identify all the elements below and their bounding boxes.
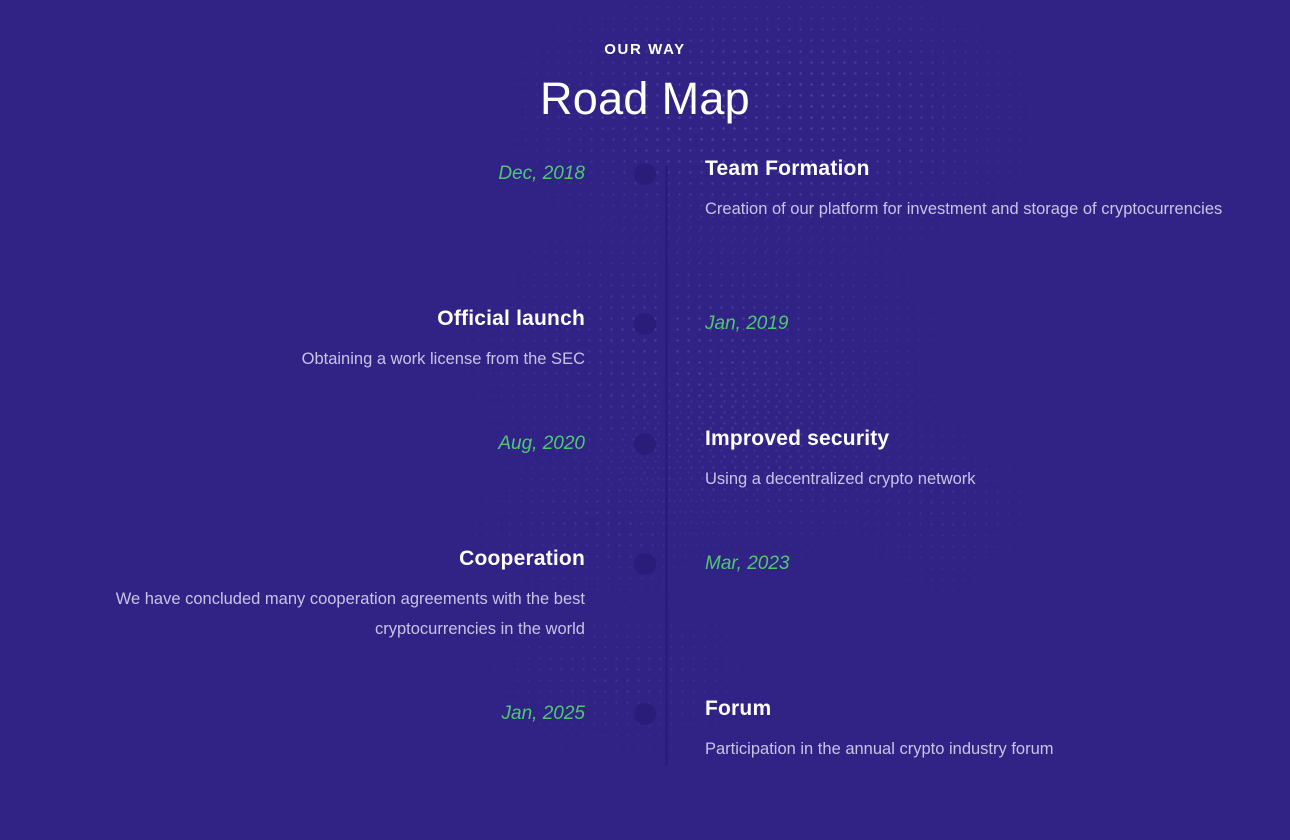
timeline-item-date: Mar, 2023 <box>705 546 1290 576</box>
timeline-milestone-dot[interactable] <box>634 313 656 335</box>
timeline-item-date-side: Mar, 2023 <box>665 546 1290 576</box>
section-header: OUR WAY Road Map <box>0 0 1290 122</box>
timeline-marker-slot <box>625 306 665 335</box>
timeline-item-title: Forum <box>705 696 1290 722</box>
timeline-marker-slot <box>625 426 665 455</box>
timeline-item-description: Creation of our platform for investment … <box>705 194 1225 224</box>
timeline-item: Jan, 2025 Forum Participation in the ann… <box>0 696 1290 786</box>
timeline-item-title: Team Formation <box>705 156 1290 182</box>
timeline-marker-slot <box>625 546 665 575</box>
timeline-milestone-dot[interactable] <box>634 163 656 185</box>
timeline-milestone-dot[interactable] <box>634 553 656 575</box>
page-title: Road Map <box>0 75 1290 122</box>
timeline-item-date-side: Dec, 2018 <box>0 156 625 186</box>
timeline-item-content-side: Team Formation Creation of our platform … <box>665 156 1290 223</box>
timeline-item-date: Dec, 2018 <box>0 156 585 186</box>
timeline-item-content-side: Cooperation We have concluded many coope… <box>0 546 625 643</box>
timeline-item-content-side: Improved security Using a decentralized … <box>665 426 1290 493</box>
timeline-milestone-dot[interactable] <box>634 703 656 725</box>
timeline-item-title: Official launch <box>0 306 585 332</box>
timeline-item-date: Jan, 2019 <box>705 306 1290 336</box>
timeline-item-title: Improved security <box>705 426 1290 452</box>
timeline-marker-slot <box>625 696 665 725</box>
timeline-item-date-side: Aug, 2020 <box>0 426 625 456</box>
timeline-item-date-side: Jan, 2025 <box>0 696 625 726</box>
timeline-item: Aug, 2020 Improved security Using a dece… <box>0 426 1290 546</box>
timeline-item-date-side: Jan, 2019 <box>665 306 1290 336</box>
timeline-item-content-side: Forum Participation in the annual crypto… <box>665 696 1290 763</box>
timeline-item-date: Jan, 2025 <box>0 696 585 726</box>
timeline-item: Official launch Obtaining a work license… <box>0 306 1290 426</box>
timeline-item: Dec, 2018 Team Formation Creation of our… <box>0 156 1290 306</box>
timeline-item-description: We have concluded many cooperation agree… <box>65 584 585 644</box>
section-eyebrow-label: OUR WAY <box>0 41 1290 58</box>
timeline-item: Cooperation We have concluded many coope… <box>0 546 1290 696</box>
roadmap-timeline: Dec, 2018 Team Formation Creation of our… <box>0 156 1290 786</box>
timeline-item-content-side: Official launch Obtaining a work license… <box>0 306 625 373</box>
timeline-item-description: Obtaining a work license from the SEC <box>65 344 585 374</box>
timeline-milestone-dot[interactable] <box>634 433 656 455</box>
timeline-item-title: Cooperation <box>0 546 585 572</box>
roadmap-page: OUR WAY Road Map Dec, 2018 Team Formatio… <box>0 0 1290 814</box>
timeline-marker-slot <box>625 156 665 185</box>
timeline-item-date: Aug, 2020 <box>0 426 585 456</box>
timeline-item-description: Using a decentralized crypto network <box>705 464 1225 494</box>
timeline-item-description: Participation in the annual crypto indus… <box>705 734 1225 764</box>
